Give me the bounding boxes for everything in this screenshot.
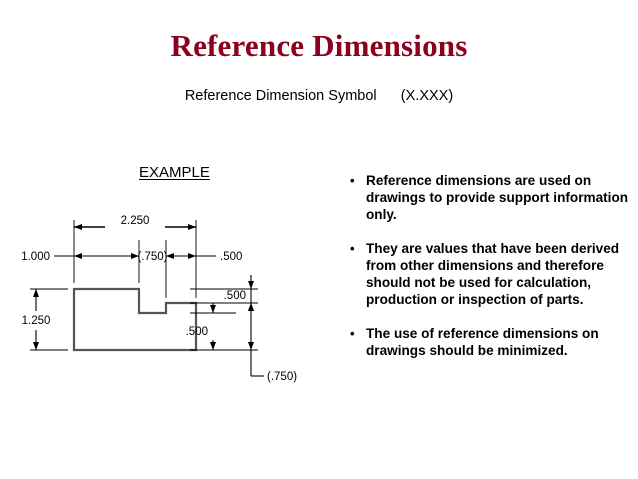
bullet-marker: • — [350, 325, 366, 342]
page-subtitle: Reference Dimension Symbol (X.XXX) — [0, 88, 638, 104]
dimension-upper-step: .500 — [224, 275, 254, 311]
bullet-text: The use of reference dimensions on drawi… — [366, 325, 630, 359]
bullet-marker: • — [350, 240, 366, 257]
dimension-bottom-reference: (.750) — [248, 303, 297, 383]
dimension-middle-reference: (.750) — [137, 251, 167, 263]
dimension-value-right-segment: .500 — [220, 251, 242, 263]
bullet-list: • Reference dimensions are used on drawi… — [350, 172, 630, 376]
list-item: • The use of reference dimensions on dra… — [350, 325, 630, 359]
bullet-text: Reference dimensions are used on drawing… — [366, 172, 630, 223]
dimension-value-left-segment: 1.000 — [21, 251, 50, 263]
bullet-text: They are values that have been derived f… — [366, 240, 630, 308]
dimension-right-segment: .500 — [166, 251, 242, 263]
dimension-left-segment: 1.000 — [21, 251, 139, 263]
technical-drawing: 2.250 1.000 (.750) .500 1.25 — [8, 180, 328, 395]
example-heading: EXAMPLE — [139, 164, 210, 181]
part-profile — [74, 289, 196, 350]
dimension-value-lower-step: .500 — [186, 326, 208, 338]
page-title: Reference Dimensions — [0, 28, 638, 64]
dimension-overall-height: 1.250 — [22, 289, 51, 350]
dimension-value-overall-width: 2.250 — [121, 215, 150, 227]
dimension-lower-step: .500 — [186, 303, 216, 350]
dimension-value-overall-height: 1.250 — [22, 315, 51, 327]
bullet-marker: • — [350, 172, 366, 189]
list-item: • Reference dimensions are used on drawi… — [350, 172, 630, 223]
list-item: • They are values that have been derived… — [350, 240, 630, 308]
dimension-value-middle-reference: (.750) — [137, 251, 167, 263]
dimension-overall-width: 2.250 — [74, 215, 196, 230]
dimension-value-bottom-reference: (.750) — [267, 371, 297, 383]
dimension-value-upper-step: .500 — [224, 290, 246, 302]
slide-canvas: Reference Dimensions Reference Dimension… — [0, 0, 638, 479]
extension-lines — [30, 220, 258, 350]
